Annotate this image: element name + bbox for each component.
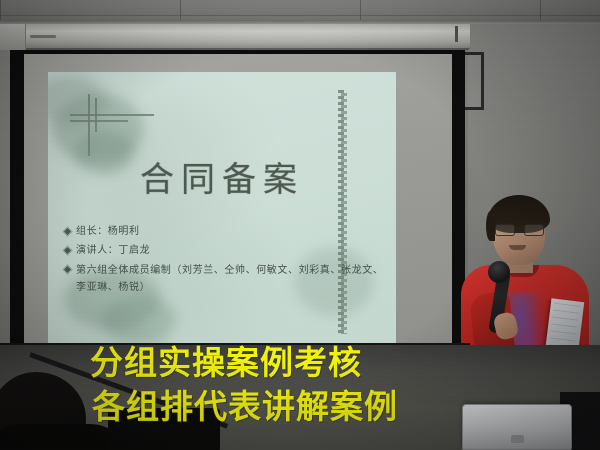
diamond-bullet-icon xyxy=(63,227,73,237)
bullet-text: 演讲人：丁启龙 xyxy=(76,243,384,259)
laptop-logo xyxy=(511,435,524,443)
roller-brand-label xyxy=(30,35,56,38)
projected-slide: 合同备案 组长：杨明利 演讲人：丁启龙 第六组全体成员编制（刘芳兰、仝帅、何敏文… xyxy=(48,72,396,344)
ceiling-tile-grid xyxy=(0,0,600,22)
slide-title: 合同备案 xyxy=(48,152,396,201)
list-item: 组长：杨明利 xyxy=(64,224,384,240)
bullet-text: 第六组全体成员编制（刘芳兰、仝帅、何敏文、刘彩真、张龙文、李亚琳、杨锐） xyxy=(76,262,384,296)
list-item: 演讲人：丁启龙 xyxy=(64,243,384,259)
bullet-text: 组长：杨明利 xyxy=(76,224,384,240)
caption-line-2: 各组排代表讲解案例 xyxy=(92,386,398,427)
diamond-bullet-icon xyxy=(63,246,73,256)
roller-mount-hook xyxy=(455,26,458,42)
eyeglasses-icon xyxy=(495,224,544,236)
roller-end-cap xyxy=(0,24,26,50)
slide-bullet-list: 组长：杨明利 演讲人：丁启龙 第六组全体成员编制（刘芳兰、仝帅、何敏文、刘彩真、… xyxy=(64,224,384,299)
screen-roller-housing xyxy=(0,24,470,50)
caption-line-1: 分组实操案例考核 xyxy=(90,342,362,383)
screen-frame-bracket xyxy=(462,52,484,110)
diamond-bullet-icon xyxy=(63,265,73,275)
presenter-mouth xyxy=(509,245,526,250)
ceiling xyxy=(0,0,600,22)
ink-crosshatch-icon xyxy=(70,94,154,156)
list-item: 第六组全体成员编制（刘芳兰、仝帅、何敏文、刘彩真、张龙文、李亚琳、杨锐） xyxy=(64,262,384,296)
laptop xyxy=(462,404,572,450)
ink-wash-blot xyxy=(102,296,176,344)
screenshot-root: 合同备案 组长：杨明利 演讲人：丁启龙 第六组全体成员编制（刘芳兰、仝帅、何敏文… xyxy=(0,0,600,450)
